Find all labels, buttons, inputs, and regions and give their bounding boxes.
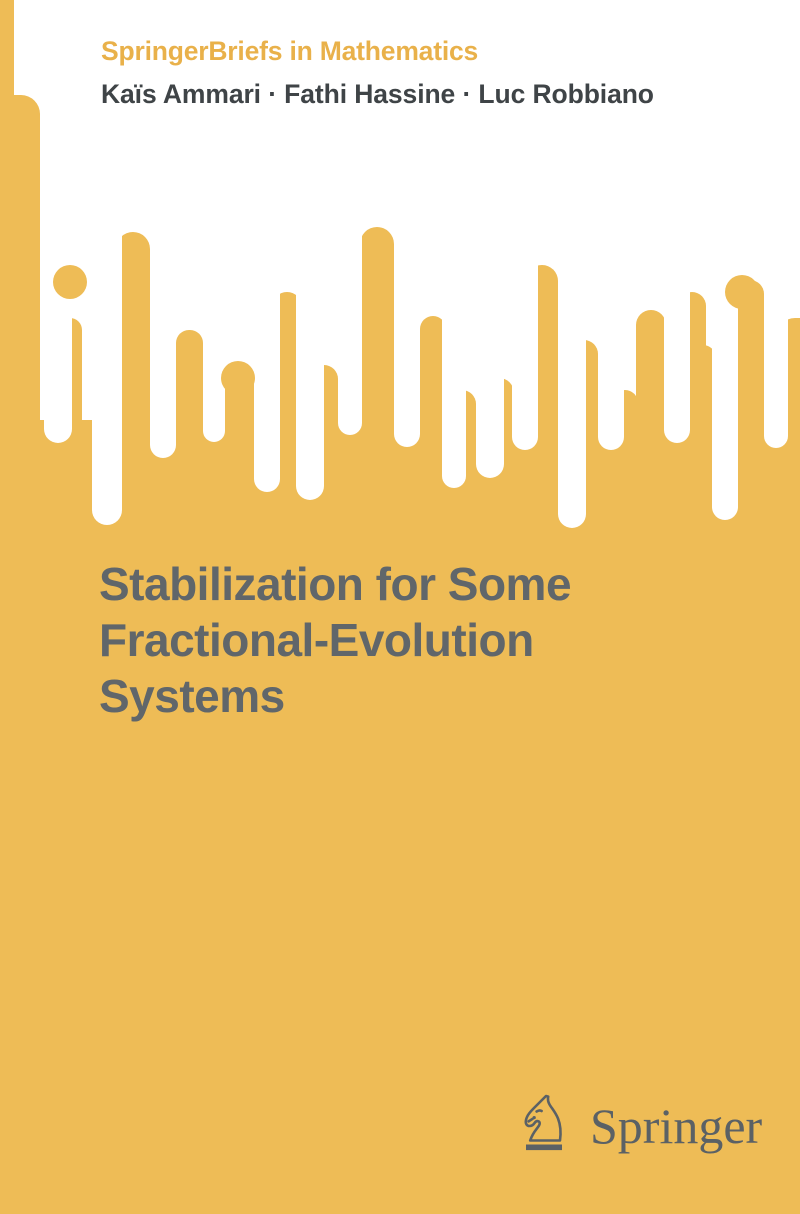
publisher-logo: Springer (516, 1092, 736, 1168)
white-left-notch (0, 0, 14, 96)
book-title-line-3: Systems (99, 668, 739, 724)
springer-knight-icon (516, 1092, 586, 1162)
book-title-line-2: Fractional-Evolution (99, 612, 739, 668)
author-list: Kaïs Ammari · Fathi Hassine · Luc Robbia… (101, 79, 654, 110)
book-title-line-1: Stabilization for Some (99, 556, 739, 612)
publisher-name: Springer (590, 1098, 762, 1154)
book-cover: SpringerBriefs in Mathematics Kaïs Ammar… (0, 0, 800, 1214)
book-title: Stabilization for Some Fractional-Evolut… (99, 556, 739, 724)
white-header-band (40, 0, 800, 150)
series-title: SpringerBriefs in Mathematics (101, 36, 478, 67)
